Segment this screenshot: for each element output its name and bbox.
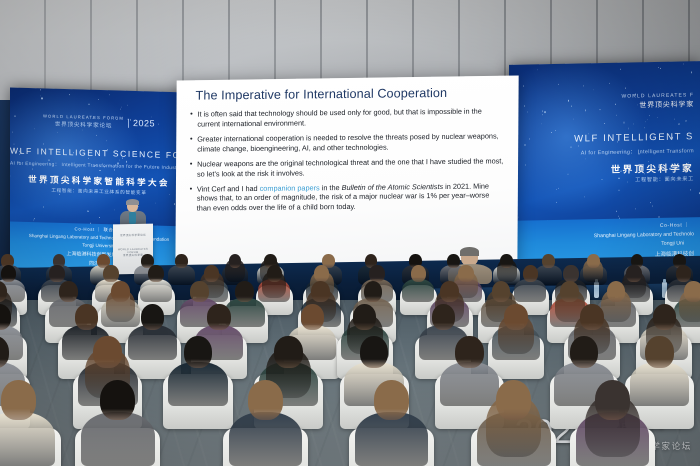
audience-head [235,281,254,303]
audience-head [1,380,36,420]
audience-head [100,380,135,420]
bullet-pre-link: Vint Cerf and I had [197,184,260,194]
podium-line-1: 世界顶尖科学家论坛 [113,233,153,238]
journal-name-italic: Bulletin of the Atomic Scientists [342,182,444,192]
audience-head [653,304,676,330]
slide-title: The Imperative for International Coopera… [196,85,506,102]
audience-head [684,281,700,303]
audience-head [75,304,98,330]
bullet-mid: in the [320,183,342,192]
companion-papers-link[interactable]: companion papers [260,183,320,193]
wlf-logo-right: WORLD LAUREATES F 世界顶尖科学家 [509,83,700,113]
audience-head [364,281,383,303]
audience-head [369,265,384,283]
audience-head [560,281,579,303]
audience-head [1,265,16,283]
host-en-2-right: Tongji Uni [509,240,700,250]
audience-head [500,254,513,269]
audience-member [140,265,172,306]
audience-member [477,380,551,466]
audience-head [93,336,122,369]
slide-bullet: Nuclear weapons are the original technol… [189,156,505,179]
logo-year: 2025 [133,118,155,129]
audience-shoulders [355,412,429,466]
audience-head [207,304,230,330]
speaker-hair [126,199,139,205]
audience-head [103,265,118,283]
audience-shoulders [140,279,172,303]
wlf-logo-left: WORLD LAUREATES FORUM 世界顶尖科学家论坛 2025 [10,104,188,132]
audience-shoulders [168,362,228,406]
audience-shoulders [0,412,55,466]
host-label-right: Co-Host ｜ [509,221,700,232]
audience-head [204,265,219,283]
slide-bullet: It is often said that technology should … [189,106,505,129]
audience-head [274,336,303,369]
audience-head [49,265,64,283]
audience-head [111,281,130,303]
audience-head [59,281,78,303]
audience-head [676,265,691,283]
audience-head [496,380,531,420]
conference-photo-scene: WORLD LAUREATES FORUM 世界顶尖科学家论坛 2025 WLF… [0,0,700,466]
audience-member [168,336,228,413]
audience-head [455,336,484,369]
audience-head [440,281,459,303]
audience-head [190,281,209,303]
right-stage-screen: WORLD LAUREATES F 世界顶尖科学家 WLF INTELLIGEN… [509,61,700,273]
audience-member [355,380,429,466]
host-en-1-right: Shanghai Lingang Laboratory and Technolo [509,231,700,241]
audience-head [141,304,164,330]
audience-head [314,265,329,283]
audience-head [504,304,527,330]
audience-head [432,304,455,330]
audience-head [360,336,389,369]
audience-head [267,265,282,283]
audience-shoulders [81,412,155,466]
audience-head [563,265,578,283]
audience-head [311,281,330,303]
audience-head [229,254,242,269]
audience-head [411,265,426,283]
audience-head [595,380,630,420]
audience-head [523,265,538,283]
audience-head [301,304,324,330]
audience-head [184,336,213,369]
audience-head [148,265,163,283]
left-stage-screen: WORLD LAUREATES FORUM 世界顶尖科学家论坛 2025 WLF… [10,88,188,273]
audience-head [458,265,473,283]
slide-bullet-with-link: Vint Cerf and I had companion papers in … [189,181,505,213]
audience-head [248,380,283,420]
audience-shoulders [229,412,303,466]
audience-head [570,336,599,369]
audience-head [626,265,641,283]
audience-member [576,380,650,466]
audience-member [229,380,303,466]
audience-member [0,380,55,466]
slide-bullet-list: It is often said that technology should … [189,106,506,213]
audience-head [580,304,603,330]
slide-bullet: Greater international cooperation is nee… [189,131,505,154]
audience-head [645,336,674,369]
audience-member [81,380,155,466]
audience-head [492,281,511,303]
audience-head [353,304,376,330]
audience-head [374,380,409,420]
logo-divider [128,118,129,127]
logo-cn-text-right: 世界顶尖科学家 [621,99,694,110]
speaker-shirt [129,212,136,224]
audience-head [607,281,626,303]
audience-head [175,254,188,269]
audience-head [587,254,600,269]
